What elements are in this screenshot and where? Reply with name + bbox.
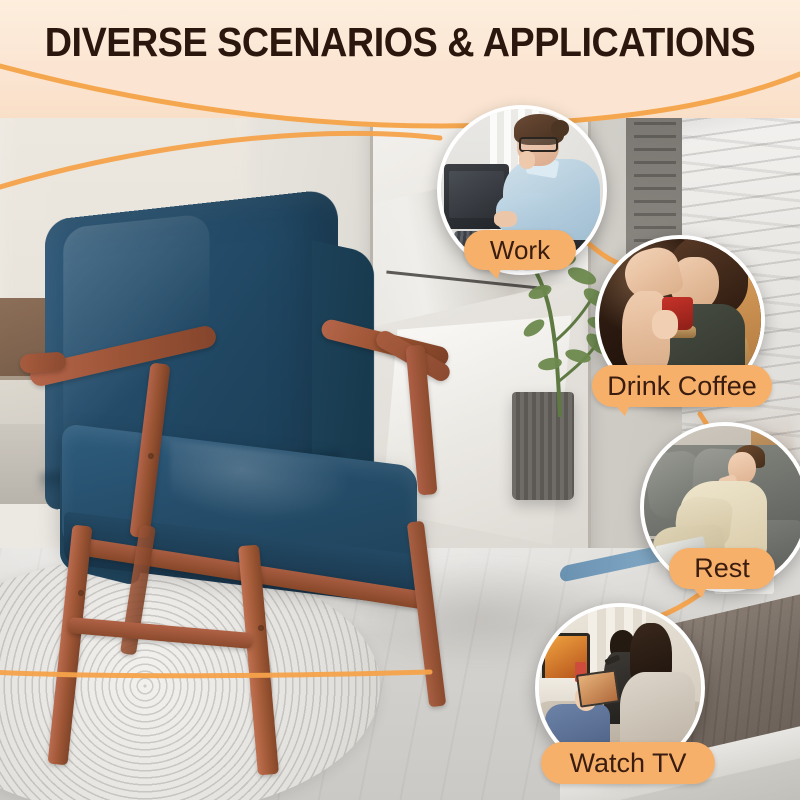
chair-screw — [258, 625, 264, 631]
chair-stretcher-bar — [68, 617, 254, 649]
plant-pot — [512, 392, 574, 500]
scenario-drink-coffee-label[interactable]: Drink Coffee — [592, 365, 772, 407]
scenario-work-label[interactable]: Work — [464, 230, 576, 270]
header-wave-divider — [0, 60, 800, 140]
chair-leg-back-right — [407, 521, 447, 708]
product-infographic: DIVERSE SCENARIOS & APPLICATIONS — [0, 0, 800, 800]
chair-screw — [148, 453, 154, 459]
accent-chair-product — [20, 195, 450, 785]
page-title: DIVERSE SCENARIOS & APPLICATIONS — [32, 22, 768, 63]
chair-armrest-left-cap — [19, 351, 66, 373]
chair-leg-front-left — [48, 525, 93, 766]
scenario-watch-tv-label[interactable]: Watch TV — [541, 742, 715, 784]
scenario-rest-label[interactable]: Rest — [669, 548, 775, 589]
chair-screw — [78, 590, 84, 596]
